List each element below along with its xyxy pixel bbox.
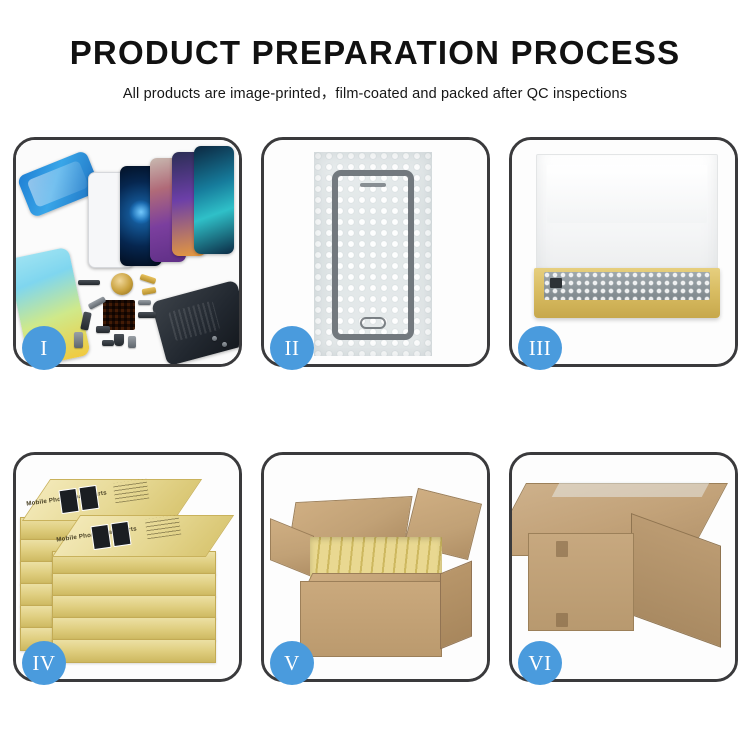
carton-front-face-image: [528, 533, 634, 631]
stacked-box: [52, 639, 216, 663]
page-subtitle: All products are image-printed，film-coat…: [0, 71, 750, 103]
carton-seam-tab-image: [556, 541, 568, 557]
process-step-panel-1: I: [13, 137, 242, 367]
bubble-wrap-image: [314, 152, 432, 356]
box-artwork-screen: [90, 524, 111, 550]
step-badge-5: V: [270, 641, 314, 685]
step-badge-4: IV: [22, 641, 66, 685]
wrapped-screen-outline-image: [332, 170, 414, 340]
screw-image: [222, 342, 227, 347]
spare-part-sim-tray-image: [74, 332, 83, 348]
stacked-box: [52, 617, 216, 641]
carton-side-face-image: [440, 561, 472, 650]
step-badge-6: VI: [518, 641, 562, 685]
spare-part-camera-image: [114, 334, 124, 346]
teal-swirl-phone-image: [194, 146, 234, 254]
process-step-panel-6: VI: [509, 452, 738, 682]
copper-coil-part-image: [111, 273, 133, 295]
stacked-box: [52, 595, 216, 619]
spare-part-battery-image: [128, 336, 136, 348]
screw-image: [212, 336, 217, 341]
box-artwork-screen: [78, 485, 99, 511]
carton-right-face-image: [631, 513, 721, 648]
process-step-panel-4: Mobile Phone Spare Parts Mobile Phone Sp…: [13, 452, 242, 682]
process-step-panel-5: V: [261, 452, 490, 682]
page-header: PRODUCT PREPARATION PROCESS All products…: [0, 0, 750, 103]
page-title: PRODUCT PREPARATION PROCESS: [0, 0, 750, 71]
wrapped-screen-in-box-image: [544, 272, 710, 300]
kraft-box-tray-image: [534, 268, 720, 318]
process-step-grid: I II III: [13, 137, 737, 682]
spare-part-button-image: [96, 326, 110, 333]
box-artwork-screen: [58, 488, 79, 514]
spare-part-shield-image: [138, 300, 151, 305]
process-step-panel-3: III: [509, 137, 738, 367]
step-badge-2: II: [270, 326, 314, 370]
spare-part-vibrator-image: [102, 340, 114, 346]
carton-seam-tab-image: [556, 613, 568, 627]
step-badge-1: I: [22, 326, 66, 370]
spare-part-speaker-image: [78, 280, 100, 285]
process-step-panel-2: II: [261, 137, 490, 367]
carton-front-face-image: [300, 581, 442, 657]
step-badge-3: III: [518, 326, 562, 370]
stacked-box: [52, 573, 216, 597]
spare-part-connector-image: [138, 312, 156, 318]
box-artwork-screen: [110, 521, 131, 547]
packing-tape-image: [552, 481, 711, 497]
